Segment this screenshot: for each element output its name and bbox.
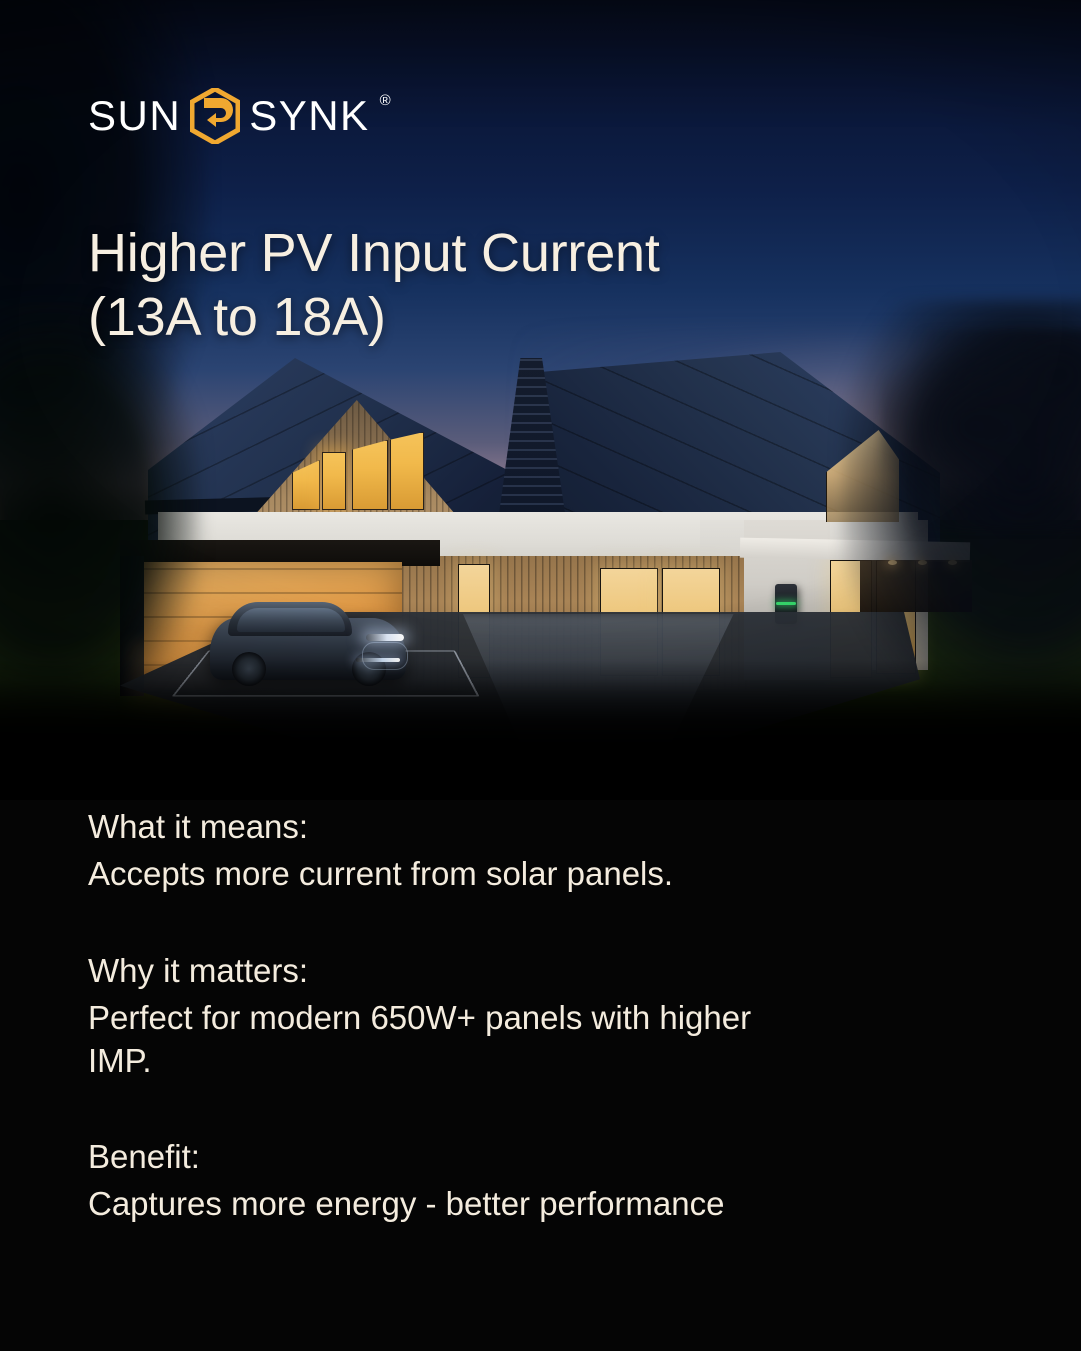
copy-text: Perfect for modern 650W+ panels with hig…: [88, 997, 788, 1083]
pine-branch-silhouette: [881, 330, 1081, 530]
registered-trademark-symbol: ®: [380, 92, 391, 109]
headline-line-2: (13A to 18A): [88, 286, 660, 350]
copy-block-why-it-matters: Why it matters: Perfect for modern 650W+…: [88, 950, 788, 1083]
car-headlight: [366, 634, 404, 641]
hexagon-exchange-arrows-icon: [190, 88, 240, 144]
brand-logo[interactable]: SUN SYNK ®: [88, 88, 391, 144]
copy-block-benefit: Benefit: Captures more energy - better p…: [88, 1136, 788, 1226]
copy-label: Benefit:: [88, 1136, 788, 1179]
copy-text: Captures more energy - better performanc…: [88, 1183, 788, 1226]
poster-canvas: SUN SYNK ® Higher PV Input Current (13A …: [0, 0, 1081, 1351]
car-window: [237, 608, 345, 632]
attic-window: [390, 432, 424, 510]
copy-label: What it means:: [88, 806, 788, 849]
headline-line-1: Higher PV Input Current: [88, 222, 660, 286]
copy-text: Accepts more current from solar panels.: [88, 853, 788, 896]
brand-word-sun: SUN: [88, 95, 181, 137]
foreground-fade: [0, 660, 1081, 800]
page-title: Higher PV Input Current (13A to 18A): [88, 222, 660, 349]
attic-window: [322, 452, 346, 510]
copy-section: What it means: Accepts more current from…: [88, 806, 788, 1226]
charger-status-led: [776, 602, 796, 605]
brand-word-synk: SYNK: [249, 95, 369, 137]
attic-window: [352, 440, 388, 510]
copy-block-what-it-means: What it means: Accepts more current from…: [88, 806, 788, 896]
copy-label: Why it matters:: [88, 950, 788, 993]
tree-silhouette-left-lower: [0, 300, 200, 720]
